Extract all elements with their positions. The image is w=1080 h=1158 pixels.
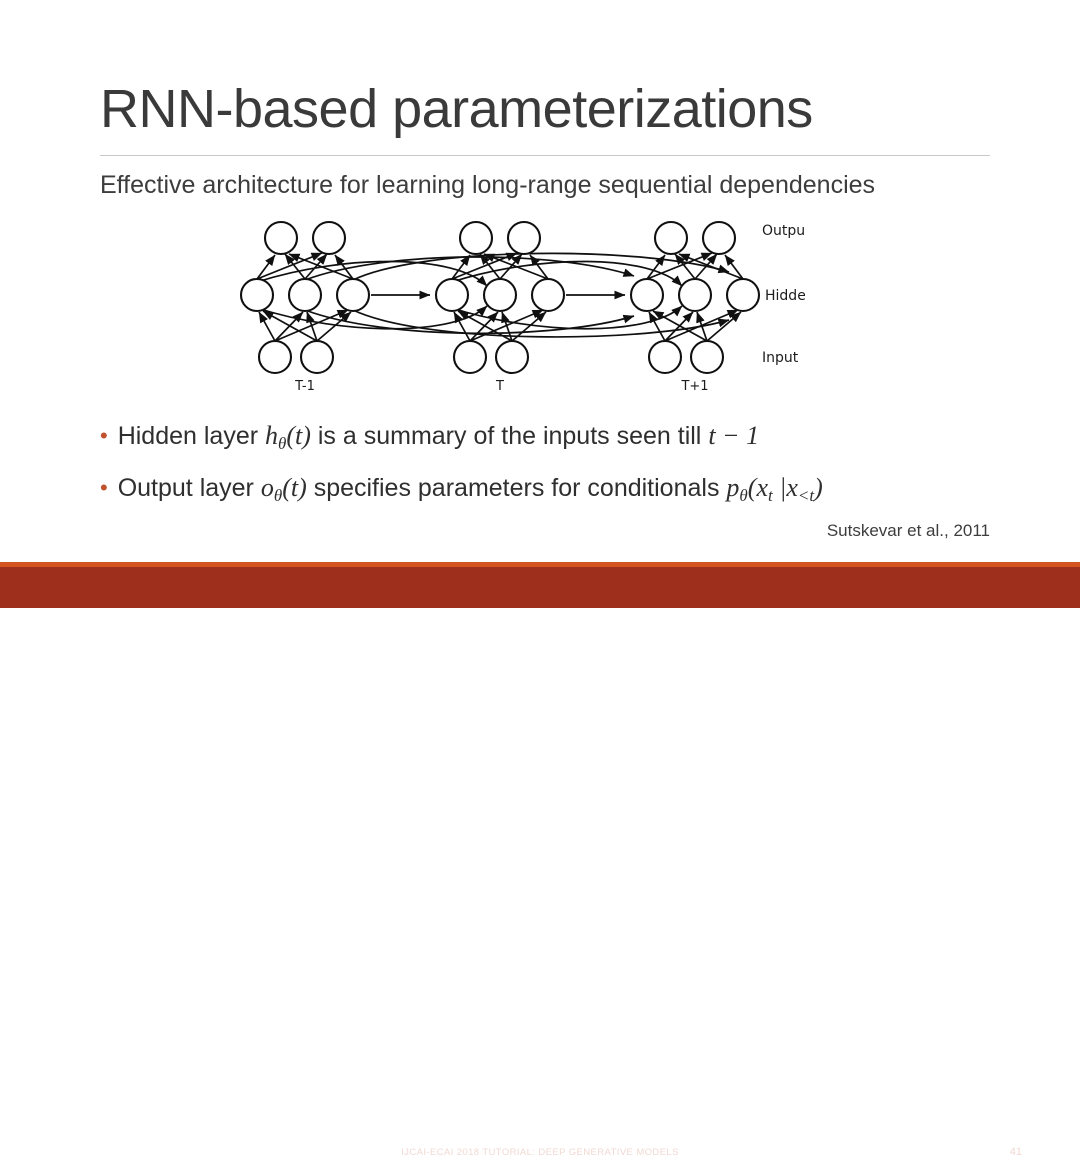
- output-node: [703, 222, 735, 254]
- input-node: [649, 341, 681, 373]
- output-node: [655, 222, 687, 254]
- input-node: [301, 341, 333, 373]
- input-node: [691, 341, 723, 373]
- bullet-text: Hidden layer hθ(t) is a summary of the i…: [118, 414, 759, 466]
- bullet-marker: •: [100, 414, 108, 458]
- row-label-output: Output: [762, 223, 805, 239]
- math-h-theta-t: hθ(t): [265, 421, 311, 450]
- time-label-tplus1: T+1: [680, 379, 708, 394]
- output-node: [460, 222, 492, 254]
- bullet-marker: •: [100, 466, 108, 510]
- bullet-text: Output layer oθ(t) specifies parameters …: [118, 466, 823, 518]
- math-o-theta-t: oθ(t): [261, 473, 307, 502]
- time-label-t: T: [495, 379, 504, 394]
- diagram-row-labels: Output Hidden Input: [762, 223, 805, 366]
- hidden-node: [631, 279, 663, 311]
- math-t-minus-1: t − 1: [708, 421, 759, 450]
- list-item: • Hidden layer hθ(t) is a summary of the…: [100, 414, 1030, 466]
- page-title: RNN-based parameterizations: [100, 78, 813, 140]
- row-label-input: Input: [762, 350, 799, 366]
- slide-canvas: RNN-based parameterizations Effective ar…: [0, 0, 1080, 608]
- hidden-node: [484, 279, 516, 311]
- diagram-nodes: [241, 222, 759, 373]
- input-node: [454, 341, 486, 373]
- input-node: [259, 341, 291, 373]
- hidden-node: [289, 279, 321, 311]
- hidden-node: [241, 279, 273, 311]
- page-number: 41: [1010, 1146, 1022, 1158]
- hidden-node: [337, 279, 369, 311]
- hidden-node: [436, 279, 468, 311]
- footer-title: IJCAI-ECAI 2018 TUTORIAL: DEEP GENERATIV…: [0, 1147, 1080, 1158]
- output-node: [265, 222, 297, 254]
- hidden-node: [679, 279, 711, 311]
- output-node: [508, 222, 540, 254]
- bullet-list: • Hidden layer hθ(t) is a summary of the…: [100, 414, 1030, 518]
- citation-text: Sutskevar et al., 2011: [827, 521, 990, 541]
- hidden-node: [532, 279, 564, 311]
- slide-subtitle: Effective architecture for learning long…: [100, 168, 875, 202]
- rnn-unrolled-diagram: Output Hidden Input T-1 T T+1: [225, 210, 805, 395]
- input-node: [496, 341, 528, 373]
- output-node: [313, 222, 345, 254]
- title-divider: [100, 155, 990, 156]
- hidden-node: [727, 279, 759, 311]
- footer-bar: IJCAI-ECAI 2018 TUTORIAL: DEEP GENERATIV…: [0, 567, 1080, 608]
- diagram-time-labels: T-1 T T+1: [294, 379, 708, 394]
- math-p-theta-conditional: pθ(xt |x<t): [726, 473, 822, 502]
- time-label-tminus1: T-1: [294, 379, 315, 394]
- list-item: • Output layer oθ(t) specifies parameter…: [100, 466, 1030, 518]
- row-label-hidden: Hidden: [765, 288, 805, 304]
